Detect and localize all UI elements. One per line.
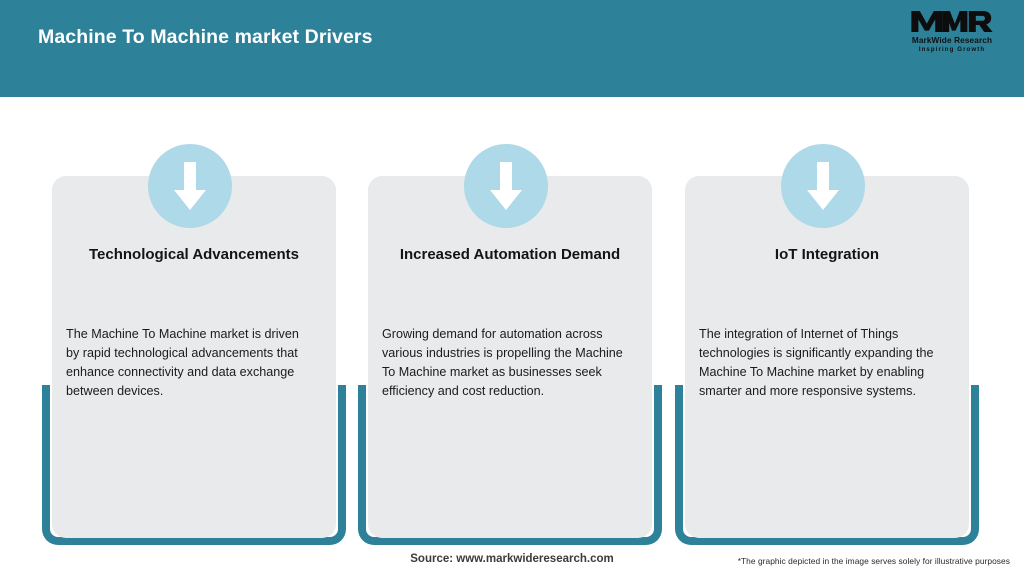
arrow-down-glyph [804, 160, 842, 212]
card-body-text: The Machine To Machine market is driven … [66, 325, 314, 402]
arrow-down-icon [464, 144, 548, 228]
card-title: Increased Automation Demand [378, 245, 642, 265]
driver-card-3[interactable]: IoT Integration The integration of Inter… [675, 97, 979, 552]
driver-card-1[interactable]: Technological Advancements The Machine T… [42, 97, 346, 552]
card-body-text: Growing demand for automation across var… [382, 325, 630, 402]
arrow-down-icon [148, 144, 232, 228]
arrow-down-icon [781, 144, 865, 228]
illustrative-disclaimer: *The graphic depicted in the image serve… [738, 556, 1010, 566]
card-title: Technological Advancements [62, 245, 326, 265]
card-body-text: The integration of Internet of Things te… [699, 325, 947, 402]
mwr-logo-icon [910, 8, 994, 35]
card-title: IoT Integration [695, 245, 959, 265]
brand-logo: MarkWide Research Inspiring Growth [898, 8, 1006, 64]
logo-tagline: Inspiring Growth [898, 46, 1006, 53]
driver-card-2[interactable]: Increased Automation Demand Growing dema… [358, 97, 662, 552]
arrow-down-glyph [171, 160, 209, 212]
page-title: Machine To Machine market Drivers [38, 26, 373, 49]
header-bar: Machine To Machine market Drivers MarkWi… [0, 0, 1024, 97]
logo-company-name: MarkWide Research [898, 36, 1006, 45]
arrow-down-glyph [487, 160, 525, 212]
drivers-card-group: Technological Advancements The Machine T… [0, 97, 1024, 552]
